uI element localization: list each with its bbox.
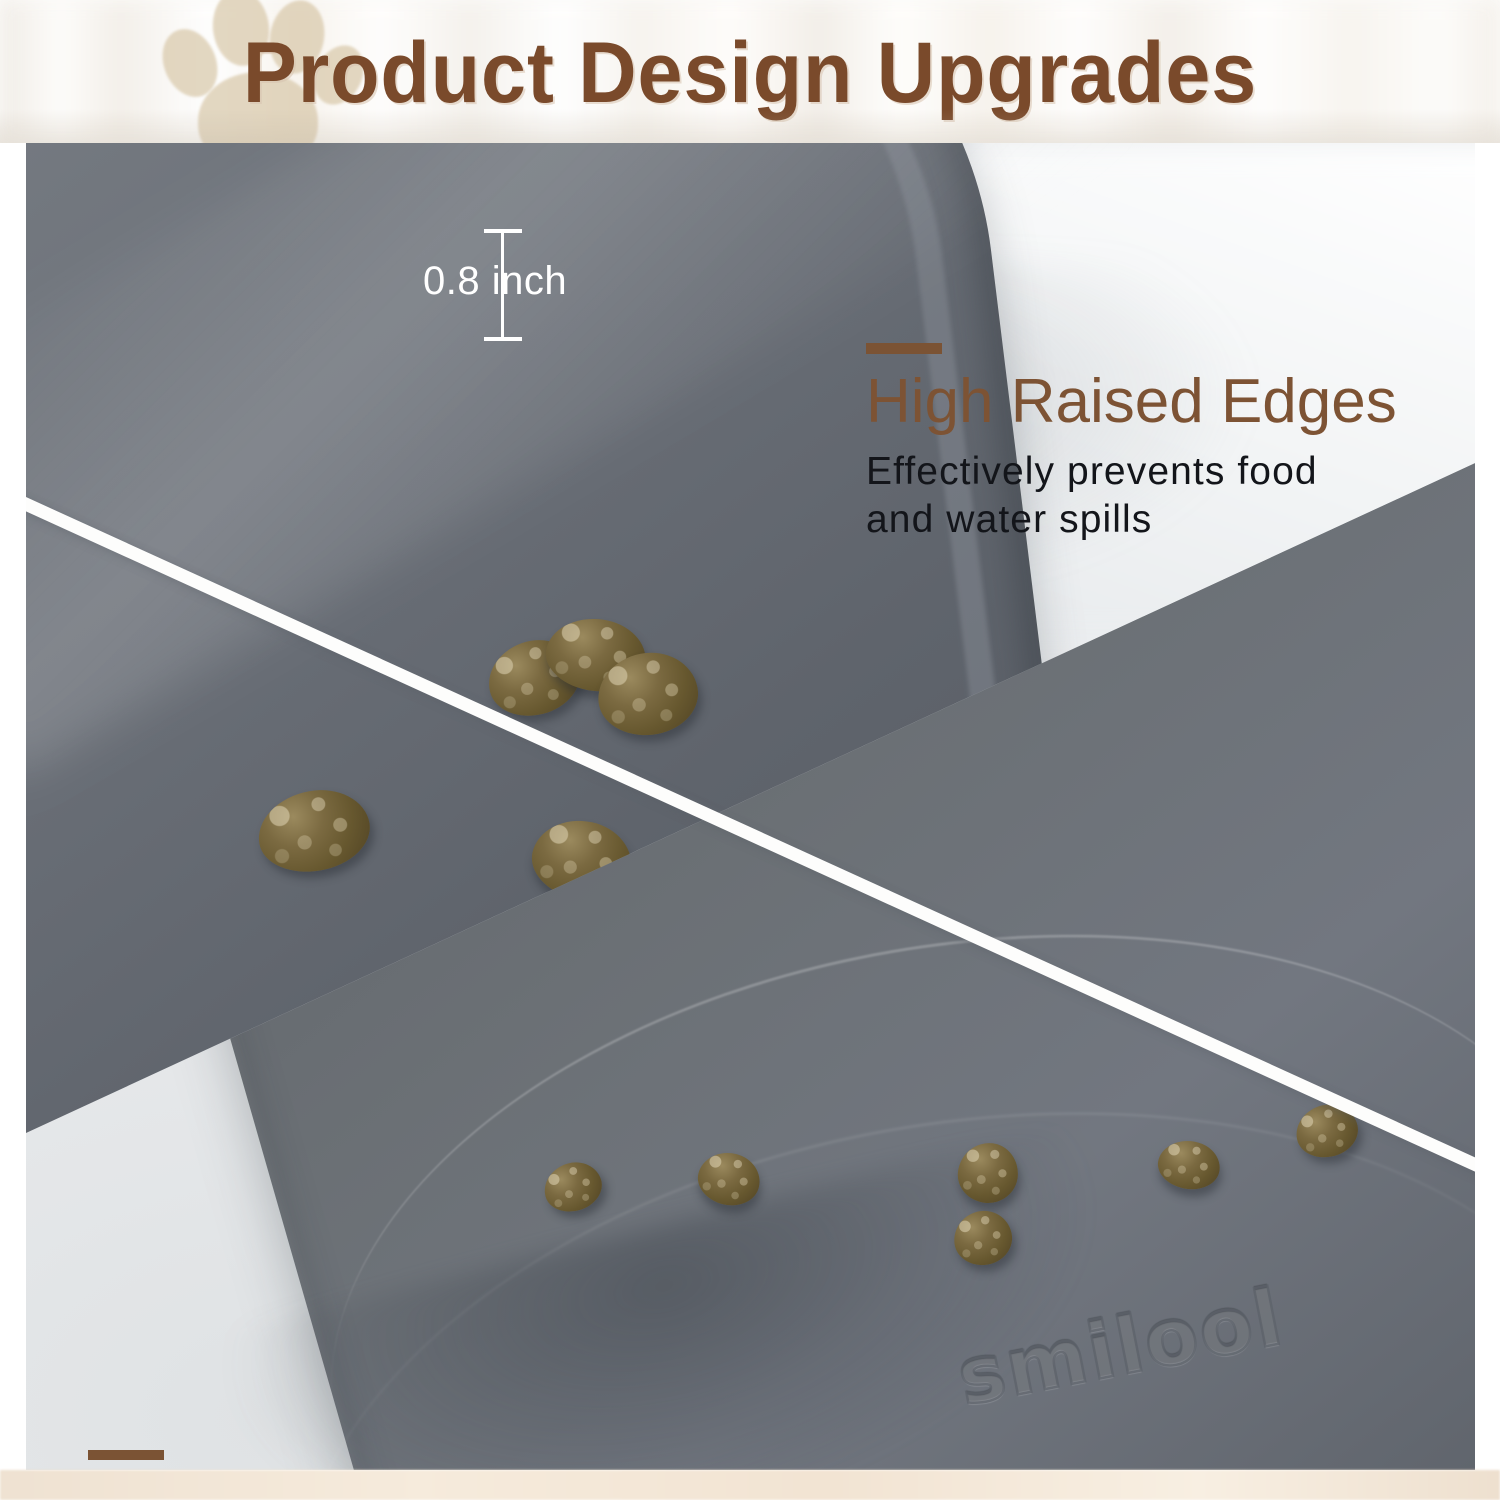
dimension-callout: 0.8 inch [458, 223, 628, 353]
bottom-strip [0, 1470, 1500, 1500]
header-shade [0, 109, 1500, 143]
feature-keeping-floor-clean: Keeping the floor clean Minimizes time s… [88, 1450, 1268, 1470]
poster-header: Product Design Upgrades [0, 0, 1500, 143]
dimension-cap-top [484, 229, 522, 233]
feature-subtitle-top: Effectively prevents food and water spil… [866, 448, 1475, 545]
feature-title-top: High Raised Edges [866, 369, 1475, 436]
dimension-label: 0.8 inch [423, 259, 567, 304]
accent-bar-top [866, 343, 942, 354]
product-photo-panel: smilool 0.8 inch High Raised Ed [26, 143, 1475, 1470]
feature-subtitle-top-line1: Effectively prevents food [866, 448, 1475, 496]
product-feature-poster: Product Design Upgrades smilool [0, 0, 1500, 1500]
dimension-cap-bottom [484, 337, 522, 341]
feature-subtitle-top-line2: and water spills [866, 496, 1475, 544]
feature-high-raised-edges: High Raised Edges Effectively prevents f… [866, 343, 1475, 545]
accent-bar-bottom [88, 1450, 164, 1460]
